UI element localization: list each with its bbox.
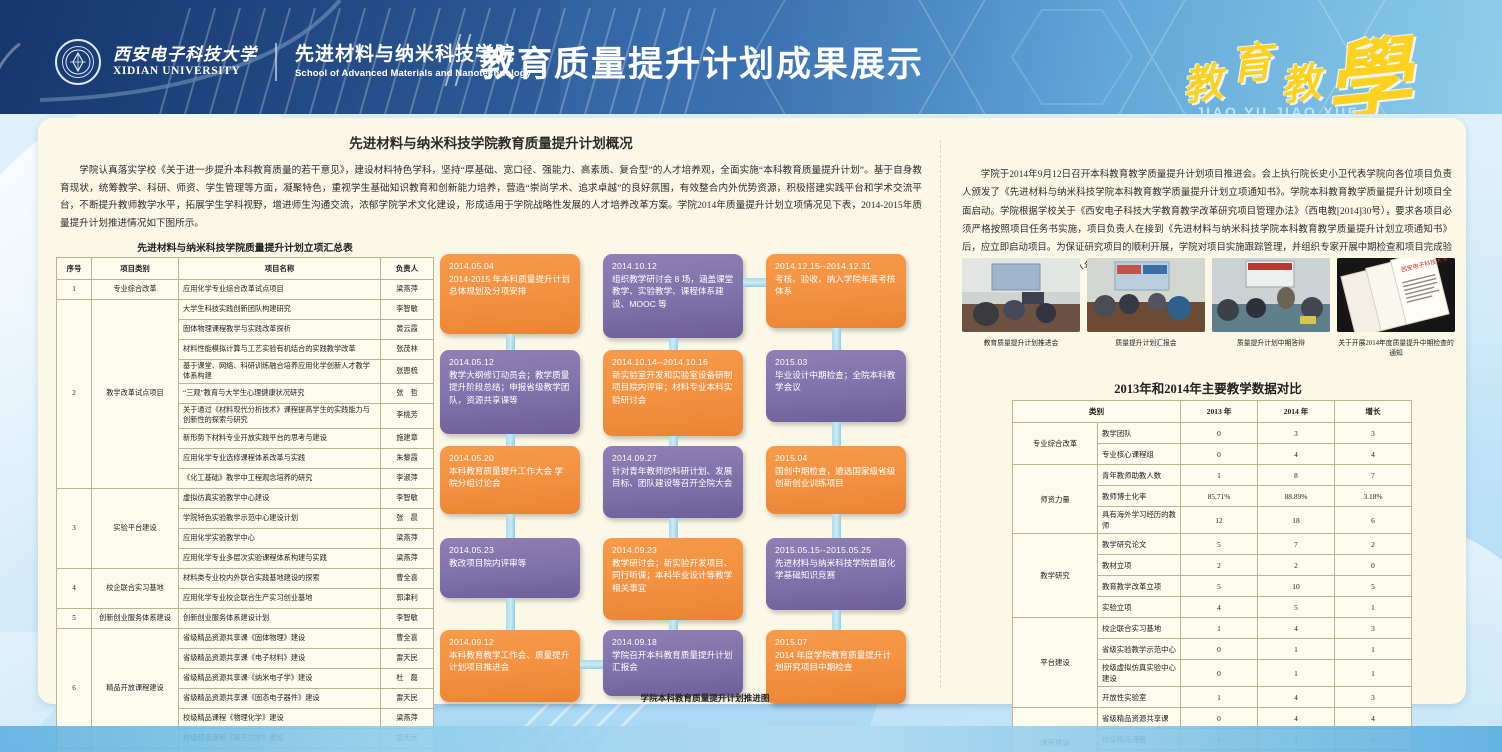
flow-node-text: 新实验室开发和实验室设备研制项目院内评审；材料专业本科实验研讨会	[612, 369, 734, 406]
cell-growth: 6	[1335, 507, 1412, 534]
flow-node-date: 2014.12.15--2014.12.31	[775, 261, 897, 272]
cell-project-name: 应用化学专业选修课程体系改革与实践	[179, 448, 381, 468]
cell-2014: 10	[1258, 576, 1335, 597]
cell-2014: 1	[1258, 639, 1335, 660]
cell-project-name: 应用化学专业校企联合生产实习创业基地	[179, 588, 381, 608]
flow-node: 2014.10.12组织教学研讨会 8 场，涵盖课堂教学、实验教学、课程体系建设…	[603, 254, 743, 338]
cell-owner: 雷天民	[381, 648, 434, 668]
page-title: 教育质量提升计划成果展示	[480, 36, 924, 87]
cell-item: 开放性实验室	[1098, 687, 1181, 708]
flow-node: 2015.05.15--2015.05.25先进材料与纳米科技学院首届化学基础知…	[766, 538, 906, 610]
stats-table-caption: 2013年和2014年主要教学数据对比	[962, 378, 1454, 397]
flow-node: 2014.05.20本科教育质量提升工作大会 学院分组讨论会	[440, 446, 580, 514]
overview-block: 先进材料与纳米科技学院教育质量提升计划概况 学院认真落实学校《关于进一步提升本科…	[60, 132, 922, 233]
photo-caption: 教育质量提升计划推进会	[962, 337, 1080, 347]
cell-project-name: 关于通过《材料现代分析技术》课程提高学生的实践能力与创新性的探索与研究	[179, 404, 381, 428]
th-category-stats: 类别	[1013, 401, 1181, 423]
poster-root: 西安电子科技大学 XIDIAN UNIVERSITY 先进材料与纳米科技学院 S…	[0, 0, 1502, 752]
cell-2013: 0	[1181, 660, 1258, 687]
cell-project-name: 基于课堂、网络、科研训练融合培养应用化学创新人才教学体系构建	[179, 360, 381, 384]
cell-2013: 85.71%	[1181, 486, 1258, 507]
project-table-caption: 先进材料与纳米科技学院质量提升计划立项汇总表	[56, 240, 434, 254]
flow-connector-vertical	[669, 436, 678, 446]
cell-owner: 梁燕萍	[381, 280, 434, 300]
photo-cell: 西安电子科技大学关于开展2014年度质量提升中期检查的通知	[1337, 258, 1455, 357]
cell-project-name: 创新创业服务体系建设计划	[179, 608, 381, 628]
cell-2014: 1	[1258, 660, 1335, 687]
project-table-wrapper: 序号 项目类别 项目名称 负责人 1专业综合改革应用化学专业综合改革试点项目梁燕…	[56, 257, 434, 752]
flow-node: 2014.09.18学院召开本科教育质量提升计划汇报会	[603, 630, 743, 696]
column-divider	[940, 140, 942, 688]
page-header: 西安电子科技大学 XIDIAN UNIVERSITY 先进材料与纳米科技学院 S…	[0, 0, 1502, 114]
flow-connector-vertical	[832, 328, 841, 350]
cell-item: 实验立项	[1098, 597, 1181, 618]
cell-growth: 3	[1335, 687, 1412, 708]
flow-node: 2014.05.042014-2015 年本科质量提升计划总体规划及分项安排	[440, 254, 580, 334]
cell-2014: 5	[1258, 597, 1335, 618]
cell-no: 2	[57, 300, 92, 489]
flow-connector-vertical	[832, 610, 841, 630]
flow-node-text: 针对青年教师的科研计划、发展目标、团队建设等召开全院大会	[612, 465, 734, 489]
flow-node-date: 2015.04	[775, 453, 897, 464]
cell-project-name: 新形势下材料专业开放实践平台的思考与建设	[179, 428, 381, 448]
cell-2014: 4	[1258, 444, 1335, 465]
cell-item: 教材立项	[1098, 555, 1181, 576]
flow-connector-vertical	[669, 620, 678, 630]
cell-growth: 3.18%	[1335, 486, 1412, 507]
cell-growth: 2	[1335, 534, 1412, 555]
flow-node-text: 考核、验收，纳入学院年底考核体系	[775, 273, 897, 297]
photo-image	[1087, 258, 1205, 332]
flow-node-date: 2014.09.18	[612, 637, 734, 648]
flow-node-date: 2015.03	[775, 357, 897, 368]
university-name-en: XIDIAN UNIVERSITY	[113, 66, 257, 78]
cell-growth: 5	[1335, 576, 1412, 597]
th-no: 序号	[57, 258, 92, 280]
flow-connector-horizontal-2	[743, 278, 766, 287]
cell-item: 教学研究论文	[1098, 534, 1181, 555]
cell-project-name: 虚拟仿真实验教学中心建设	[179, 488, 381, 508]
cell-owner: 曹全喜	[381, 568, 434, 588]
cell-owner: 李智敏	[381, 608, 434, 628]
cell-item: 省级实验教学示范中心	[1098, 639, 1181, 660]
flowchart-caption: 学院本科教育质量提升计划推进图	[605, 692, 805, 704]
photo-caption: 质量提升计划汇报会	[1087, 337, 1205, 347]
th-growth: 增长	[1335, 401, 1412, 423]
cell-2014: 7	[1258, 534, 1335, 555]
flow-node-text: 毕业设计中期检查；全院本科教学会议	[775, 369, 897, 393]
cell-owner: 朱黎霞	[381, 448, 434, 468]
calligraphy-pinyin: JIAO YU JIAO XUE	[1196, 104, 1359, 114]
project-table-header-row: 序号 项目类别 项目名称 负责人	[57, 258, 434, 280]
table-row: 平台建设校企联合实习基地143	[1013, 618, 1412, 639]
flow-connector-vertical	[506, 334, 515, 350]
cell-2013: 12	[1181, 507, 1258, 534]
cell-owner: 梁燕萍	[381, 528, 434, 548]
cell-2013: 5	[1181, 534, 1258, 555]
cell-growth: 4	[1335, 444, 1412, 465]
photo-cell: 教育质量提升计划推进会	[962, 258, 1080, 357]
photo-cell: 质量提升计划汇报会	[1087, 258, 1205, 357]
flow-node: 2014.05.12教学大纲修订动员会；教学质量提升阶段总结；申报省级教学团队，…	[440, 350, 580, 434]
flow-node-date: 2014.05.04	[449, 261, 571, 272]
project-table: 序号 项目类别 项目名称 负责人 1专业综合改革应用化学专业综合改革试点项目梁燕…	[56, 257, 434, 752]
cell-2013: 0	[1181, 444, 1258, 465]
cell-group: 专业综合改革	[1013, 423, 1098, 465]
cell-category: 校企联合实习基地	[92, 568, 179, 608]
cell-2013: 0	[1181, 639, 1258, 660]
calligraphy-logo: 教 育 教 學 JIAO YU JIAO XUE	[1174, 8, 1474, 114]
flow-node: 2014.09.23教学研讨会；新实验开发项目、同行听课；本科毕业设计等教学相关…	[603, 538, 743, 620]
cell-no: 1	[57, 280, 92, 300]
table-row: 教学研究教学研究论文572	[1013, 534, 1412, 555]
photo-image	[962, 258, 1080, 332]
cell-2013: 2	[1181, 555, 1258, 576]
university-name: 西安电子科技大学 XIDIAN UNIVERSITY	[113, 46, 257, 78]
cell-2014: 4	[1258, 687, 1335, 708]
flow-node-date: 2014.05.12	[449, 357, 571, 368]
university-name-cn: 西安电子科技大学	[113, 46, 257, 63]
cell-growth: 1	[1335, 597, 1412, 618]
th-owner: 负责人	[381, 258, 434, 280]
table-row: 6精品开放课程建设省级精品资源共享课《固体物理》建设曹全喜	[57, 628, 434, 648]
calligraphy-char-4: 學	[1318, 6, 1417, 114]
th-2014: 2014 年	[1258, 401, 1335, 423]
flow-node-date: 2015.07	[775, 637, 897, 648]
cell-owner: 雷天民	[381, 688, 434, 708]
flow-node-text: 国创中期检查，遴选国家级省级创新创业训练项目	[775, 465, 897, 489]
cell-item: 具有海外学习经历的教师	[1098, 507, 1181, 534]
cell-owner: 李智敏	[381, 300, 434, 320]
flow-node: 2014.09.27针对青年教师的科研计划、发展目标、团队建设等召开全院大会	[603, 446, 743, 518]
flow-node-date: 2014.10.12	[612, 261, 734, 272]
cell-item: 专业核心课程组	[1098, 444, 1181, 465]
cell-growth: 7	[1335, 465, 1412, 486]
cell-project-name: 应用化学专业多层次实验课程体系构建与实践	[179, 548, 381, 568]
cell-owner: 张 晨	[381, 508, 434, 528]
cell-2014: 3	[1258, 423, 1335, 444]
flow-node-text: 2014-2015 年本科质量提升计划总体规划及分项安排	[449, 273, 571, 297]
flow-node-text: 组织教学研讨会 8 场，涵盖课堂教学、实验教学、课程体系建设、MOOC 等	[612, 273, 734, 310]
brand-lockup: 西安电子科技大学 XIDIAN UNIVERSITY 先进材料与纳米科技学院 S…	[55, 40, 531, 84]
cell-project-name: 省级精品资源共享课《固体物理》建设	[179, 628, 381, 648]
stats-table: 类别 2013 年 2014 年 增长 专业综合改革教学团队033专业核心课程组…	[1012, 400, 1412, 752]
cell-owner: 梁燕萍	[381, 548, 434, 568]
university-seal-icon	[55, 39, 101, 85]
cell-growth: 3	[1335, 618, 1412, 639]
flow-node-date: 2014.10.14--2014.10.16	[612, 357, 734, 368]
cell-2014: 88.89%	[1258, 486, 1335, 507]
cell-category: 创新创业服务体系建设	[92, 608, 179, 628]
flow-connector-vertical	[832, 422, 841, 446]
photo-strip: 教育质量提升计划推进会质量提升计划汇报会质量提升计划中期答辩西安电子科技大学关于…	[962, 258, 1454, 357]
flow-connector-vertical	[506, 598, 515, 630]
overview-title: 先进材料与纳米科技学院教育质量提升计划概况	[60, 132, 922, 152]
cell-2013: 1	[1181, 687, 1258, 708]
cell-project-name: 应用化学实验教学中心	[179, 528, 381, 548]
cell-owner: 李桃芳	[381, 404, 434, 428]
brand-divider	[275, 43, 277, 81]
cell-category: 专业综合改革	[92, 280, 179, 300]
flow-node: 2015.03毕业设计中期检查；全院本科教学会议	[766, 350, 906, 422]
cell-owner: 施建章	[381, 428, 434, 448]
overview-body: 学院认真落实学校《关于进一步提升本科教育质量的若干意见》，建设材料特色学科，坚持…	[60, 162, 922, 233]
cell-owner: 李淑萍	[381, 468, 434, 488]
flow-connector-horizontal-1	[580, 660, 603, 669]
th-name: 项目名称	[179, 258, 381, 280]
cell-project-name: 应用化学专业综合改革试点项目	[179, 280, 381, 300]
stats-table-body: 专业综合改革教学团队033专业核心课程组044师资力量青年教师助教人数187教师…	[1013, 423, 1412, 752]
photo-cell: 质量提升计划中期答辩	[1212, 258, 1330, 357]
cell-project-name: 省级精品资源共享课《纳米电子学》建设	[179, 668, 381, 688]
flow-node-text: 先进材料与纳米科技学院首届化学基础知识竞赛	[775, 557, 897, 581]
cell-project-name: 大学生科技实践创新团队构建研究	[179, 300, 381, 320]
cell-project-name: 《化工基础》教学中工程观念培养的研究	[179, 468, 381, 488]
cell-growth: 1	[1335, 660, 1412, 687]
flow-node-text: 教学研讨会；新实验开发项目、同行听课；本科毕业设计等教学相关事宜	[612, 557, 734, 594]
cell-2013: 4	[1181, 597, 1258, 618]
cell-2014: 18	[1258, 507, 1335, 534]
cell-owner: 黄云霞	[381, 320, 434, 340]
flow-connector-vertical	[669, 518, 678, 538]
cell-no: 4	[57, 568, 92, 608]
table-row: 4校企联合实习基地材料类专业校内外联合实践基地建设的探索曹全喜	[57, 568, 434, 588]
flow-connector-vertical	[506, 434, 515, 446]
cell-item: 校企联合实习基地	[1098, 618, 1181, 639]
table-row: 3实验平台建设虚拟仿真实验教学中心建设李智敏	[57, 488, 434, 508]
flow-node-date: 2014.05.23	[449, 545, 571, 556]
cell-group: 平台建设	[1013, 618, 1098, 708]
flow-node: 2014.12.15--2014.12.31考核、验收，纳入学院年底考核体系	[766, 254, 906, 328]
cell-owner: 李智敏	[381, 488, 434, 508]
flow-node: 2014.09.12本科教育教学工作会、质量提升计划项目推进会	[440, 630, 580, 702]
cell-no: 3	[57, 488, 92, 568]
photo-image: 西安电子科技大学	[1337, 258, 1455, 332]
flow-node-date: 2014.05.20	[449, 453, 571, 464]
cell-project-name: 省级精品资源共享课《电子材料》建设	[179, 648, 381, 668]
cell-owner: 曹全喜	[381, 628, 434, 648]
flow-node-date: 2014.09.23	[612, 545, 734, 556]
cell-2014: 2	[1258, 555, 1335, 576]
flow-node-text: 教学大纲修订动员会；教学质量提升阶段总结；申报省级教学团队，资源共享课等	[449, 369, 571, 406]
cell-2014: 8	[1258, 465, 1335, 486]
cell-category: 实验平台建设	[92, 488, 179, 568]
table-row: 师资力量青年教师助教人数187	[1013, 465, 1412, 486]
cell-item: 教师博士化率	[1098, 486, 1181, 507]
cell-2013: 5	[1181, 576, 1258, 597]
cell-project-name: 材料性能模拟计算与工艺实验有机结合的实践教学改革	[179, 340, 381, 360]
footer-strip	[0, 726, 1502, 752]
flow-node-date: 2015.05.15--2015.05.25	[775, 545, 897, 556]
cell-item: 青年教师助教人数	[1098, 465, 1181, 486]
cell-item: 教学团队	[1098, 423, 1181, 444]
cell-growth: 1	[1335, 639, 1412, 660]
cell-project-name: 省级精品资源共享课《固态电子器件》建设	[179, 688, 381, 708]
flowchart: 2014.05.042014-2015 年本科质量提升计划总体规划及分项安排20…	[440, 250, 934, 705]
cell-project-name: “三观”教育与大学生心理健康状况研究	[179, 384, 381, 404]
th-2013: 2013 年	[1181, 401, 1258, 423]
stats-table-header-row: 类别 2013 年 2014 年 增长	[1013, 401, 1412, 423]
cell-no: 5	[57, 608, 92, 628]
cell-2013: 1	[1181, 618, 1258, 639]
cell-category: 教学改革试点项目	[92, 300, 179, 489]
cell-growth: 3	[1335, 423, 1412, 444]
flow-node-text: 2014 年度学院教育质量提升计划研究项目中期检查	[775, 649, 897, 673]
cell-project-name: 材料类专业校内外联合实践基地建设的探索	[179, 568, 381, 588]
flow-node-text: 本科教育教学工作会、质量提升计划项目推进会	[449, 649, 571, 673]
flow-node-text: 本科教育质量提升工作大会 学院分组讨论会	[449, 465, 571, 489]
flow-node-text: 教改项目院内评审等	[449, 557, 571, 569]
flow-node: 2014.10.14--2014.10.16新实验室开发和实验室设备研制项目院内…	[603, 350, 743, 436]
cell-group: 师资力量	[1013, 465, 1098, 534]
cell-owner: 郭津利	[381, 588, 434, 608]
project-table-body: 1专业综合改革应用化学专业综合改革试点项目梁燕萍2教学改革试点项目大学生科技实践…	[57, 280, 434, 752]
cell-project-name: 学院特色实验教学示范中心建设计划	[179, 508, 381, 528]
photo-caption: 关于开展2014年度质量提升中期检查的通知	[1337, 337, 1455, 357]
flow-connector-vertical	[832, 514, 841, 538]
table-row: 5创新创业服务体系建设创新创业服务体系建设计划李智敏	[57, 608, 434, 628]
cell-group: 教学研究	[1013, 534, 1098, 618]
th-category: 项目类别	[92, 258, 179, 280]
flow-node: 2014.05.23教改项目院内评审等	[440, 538, 580, 598]
calligraphy-char-2: 育	[1227, 28, 1274, 92]
cell-owner: 张恩梳	[381, 360, 434, 384]
cell-2014: 4	[1258, 618, 1335, 639]
stats-table-wrapper: 类别 2013 年 2014 年 增长 专业综合改革教学团队033专业核心课程组…	[1012, 400, 1412, 752]
flow-node-date: 2014.09.12	[449, 637, 571, 648]
cell-owner: 张茂林	[381, 340, 434, 360]
cell-project-name: 固体物理课程教学与实践改革探析	[179, 320, 381, 340]
cell-item: 校级虚拟仿真实验中心建设	[1098, 660, 1181, 687]
cell-growth: 0	[1335, 555, 1412, 576]
table-row: 2教学改革试点项目大学生科技实践创新团队构建研究李智敏	[57, 300, 434, 320]
cell-item: 教育教学改革立项	[1098, 576, 1181, 597]
photo-caption: 质量提升计划中期答辩	[1212, 337, 1330, 347]
cell-owner: 杜 磊	[381, 668, 434, 688]
cell-owner: 张 哲	[381, 384, 434, 404]
flow-connector-vertical	[669, 338, 678, 350]
table-row: 1专业综合改革应用化学专业综合改革试点项目梁燕萍	[57, 280, 434, 300]
cell-2013: 1	[1181, 465, 1258, 486]
photo-image	[1212, 258, 1330, 332]
flow-node-date: 2014.09.27	[612, 453, 734, 464]
flow-connector-vertical	[506, 514, 515, 538]
table-row: 专业综合改革教学团队033	[1013, 423, 1412, 444]
flow-node: 2015.04国创中期检查，遴选国家级省级创新创业训练项目	[766, 446, 906, 514]
flow-node-text: 学院召开本科教育质量提升计划汇报会	[612, 649, 734, 673]
cell-2013: 0	[1181, 423, 1258, 444]
